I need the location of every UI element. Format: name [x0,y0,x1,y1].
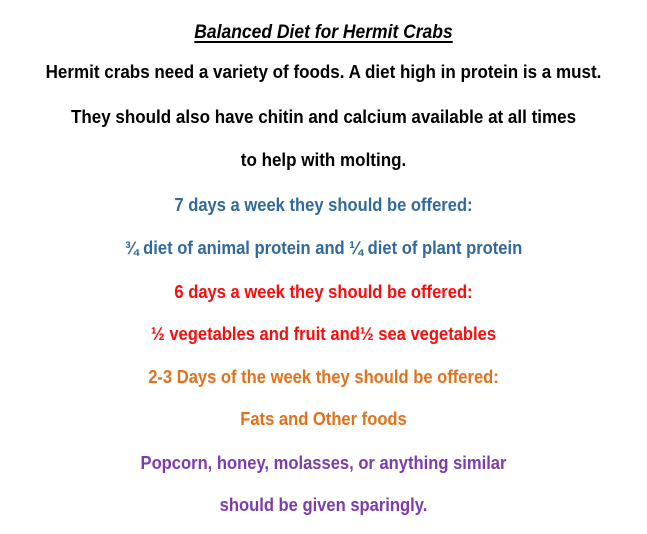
section-sparingly-heading: Popcorn, honey, molasses, or anything si… [26,454,621,472]
section-seven-days-detail: ¾ diet of animal protein and ¼ diet of p… [26,239,621,257]
section-seven-days-heading: 7 days a week they should be offered: [26,196,621,214]
intro-line-1: Hermit crabs need a variety of foods. A … [26,63,621,82]
section-six-days-detail: ½ vegetables and fruit and½ sea vegetabl… [26,325,621,343]
section-two-three-days-heading: 2-3 Days of the week they should be offe… [26,368,621,386]
section-sparingly-detail: should be given sparingly. [26,496,621,514]
intro-line-3: to help with molting. [26,151,621,170]
diet-infographic-slide: Balanced Diet for Hermit Crabs Hermit cr… [0,0,647,534]
section-two-three-days-detail: Fats and Other foods [26,410,621,428]
page-title: Balanced Diet for Hermit Crabs [26,23,621,42]
intro-line-2: They should also have chitin and calcium… [26,108,621,127]
section-six-days-heading: 6 days a week they should be offered: [26,283,621,301]
